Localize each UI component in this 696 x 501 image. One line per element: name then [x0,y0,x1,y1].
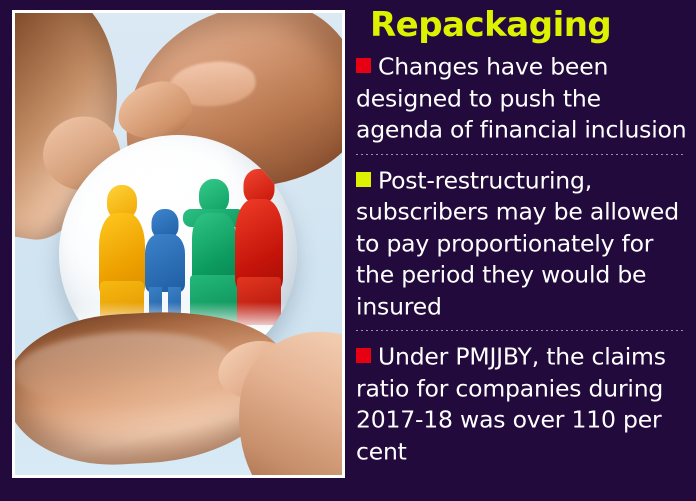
bullet-item-3: Under PMJJBY, the claims ratio for compa… [352,340,692,466]
content-column: Repackaging Changes have been designed t… [352,0,696,501]
bullet-list: Changes have been designed to push the a… [352,50,692,466]
bullet-item-2: Post-restructuring, subscribers may be a… [352,164,692,322]
figurine-body [145,234,185,292]
bullet-text-2: Post-restructuring, subscribers may be a… [356,166,679,320]
bullet-item-1: Changes have been designed to push the a… [352,50,692,145]
photo-panel [12,10,345,478]
headline-title: Repackaging [352,6,692,44]
lime-square-bullet-icon [356,172,371,187]
bullet-divider-2 [356,330,686,331]
figurine-head [199,179,229,213]
insurance-protection-photo [15,13,342,475]
red-square-bullet-icon [356,348,371,363]
bullet-divider-1 [356,154,686,155]
red-square-bullet-icon [356,58,371,73]
infographic-card: Repackaging Changes have been designed t… [0,0,696,501]
bullet-text-3: Under PMJJBY, the claims ratio for compa… [356,343,666,466]
bullet-text-1: Changes have been designed to push the a… [356,53,686,144]
palm-highlight [15,326,236,409]
